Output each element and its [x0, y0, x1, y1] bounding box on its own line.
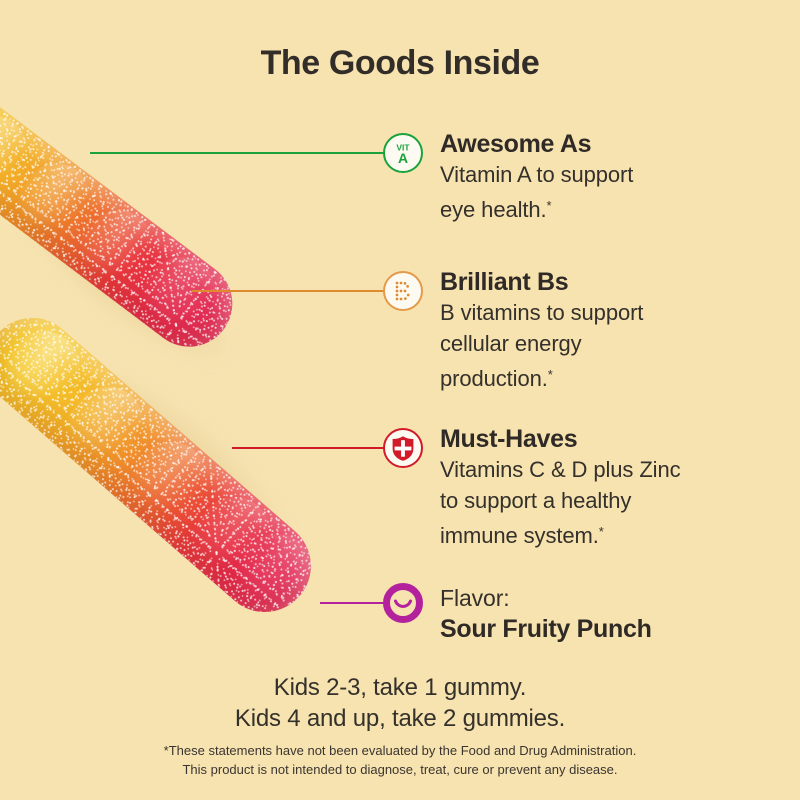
fda-disclaimer: *These statements have not been evaluate… [0, 741, 800, 779]
leader-line-flavor [320, 602, 390, 604]
b-vitamin-icon [383, 271, 423, 311]
feature-body-line: production. [440, 366, 548, 391]
feature-body-line: Vitamins C & D plus Zinc [440, 457, 681, 482]
feature-body-line: eye health. [440, 197, 547, 222]
feature-body: B vitamins to support cellular energy pr… [440, 297, 770, 394]
dosage-line-2: Kids 4 and up, take 2 gummies. [0, 703, 800, 734]
feature-heading: Awesome As [440, 129, 770, 159]
gummy-worm-front [0, 299, 330, 631]
feature-heading: Must-Haves [440, 424, 770, 454]
product-photo-gummy-worms [0, 100, 380, 660]
page-title: The Goods Inside [0, 44, 800, 83]
feature-body-line: cellular energy [440, 331, 582, 356]
flavor-label: Flavor: [440, 583, 770, 613]
gummy-worm-back [0, 100, 249, 364]
feature-body-line: Vitamin A to support [440, 162, 633, 187]
product-benefits-infographic: The Goods Inside [0, 0, 800, 800]
smile-icon [383, 583, 423, 623]
asterisk-mark: * [548, 367, 553, 382]
feature-body-line: immune system. [440, 523, 599, 548]
asterisk-mark: * [599, 524, 604, 539]
feature-heading: Brilliant Bs [440, 267, 770, 297]
shield-icon [383, 428, 423, 468]
vitamin-a-icon: VIT A [383, 133, 423, 173]
svg-text:A: A [398, 150, 408, 166]
asterisk-mark: * [547, 198, 552, 213]
leader-line-must-haves [232, 447, 390, 449]
leader-line-b-vitamins [192, 290, 390, 292]
flavor-value: Sour Fruity Punch [440, 613, 770, 645]
disclaimer-line-1: *These statements have not been evaluate… [0, 741, 800, 760]
feature-body: Vitamin A to support eye health.* [440, 159, 770, 225]
dosage-instructions: Kids 2-3, take 1 gummy. Kids 4 and up, t… [0, 672, 800, 734]
feature-body-line: to support a healthy [440, 488, 631, 513]
feature-body-line: B vitamins to support [440, 300, 643, 325]
feature-body: Vitamins C & D plus Zinc to support a he… [440, 454, 770, 551]
leader-line-vitamin-a [90, 152, 390, 154]
disclaimer-line-2: This product is not intended to diagnose… [0, 760, 800, 779]
dosage-line-1: Kids 2-3, take 1 gummy. [0, 672, 800, 703]
